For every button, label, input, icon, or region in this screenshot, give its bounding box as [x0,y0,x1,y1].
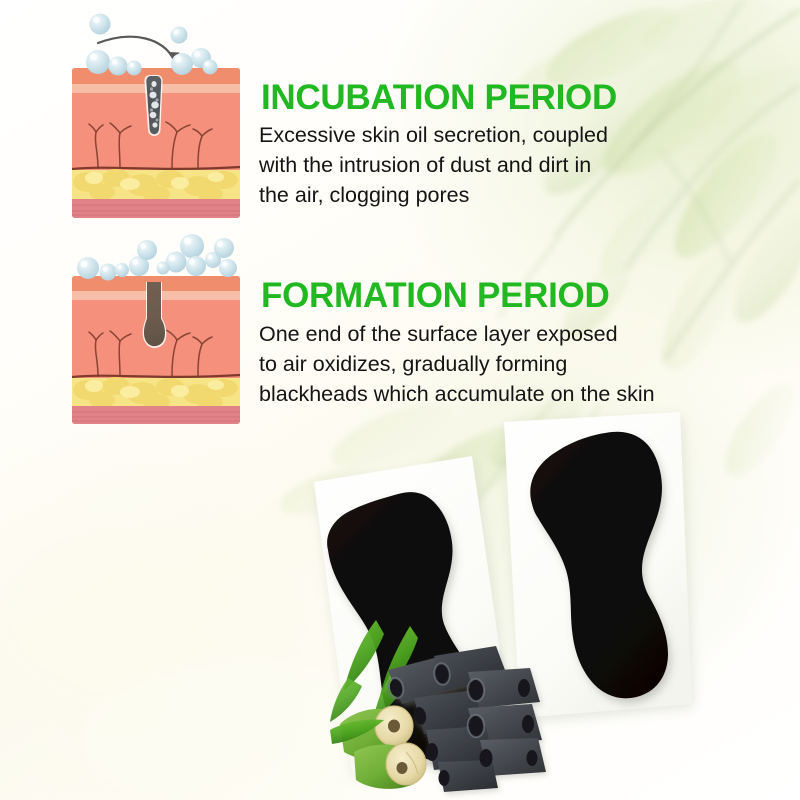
bubble-group-incubation [86,14,218,76]
ingredient-photo-bamboo-charcoal [318,612,563,800]
body-formation-period: One end of the surface layer exposed to … [259,319,655,409]
body-line: the air, clogging pores [259,180,608,210]
body-line: Excessive skin oil secretion, coupled [259,120,608,150]
fresh-bamboo-stalks [330,706,426,789]
diagram-incubation-period [58,2,254,222]
heading-formation-period: FORMATION PERIOD [261,276,609,316]
skin-block-formation [72,276,240,424]
diagram-formation-period [58,232,254,428]
bubble-group-formation [77,234,237,281]
infographic-poster: INCUBATION PERIOD Excessive skin oil sec… [0,0,800,800]
flow-arrow-icon [98,37,180,64]
body-line: to air oxidizes, gradually forming [259,349,655,379]
body-incubation-period: Excessive skin oil secretion, coupled wi… [259,120,608,210]
heading-incubation-period: INCUBATION PERIOD [261,78,617,118]
body-line: One end of the surface layer exposed [259,319,655,349]
body-line: with the intrusion of dust and dirt in [259,150,608,180]
skin-block-incubation [72,68,240,218]
